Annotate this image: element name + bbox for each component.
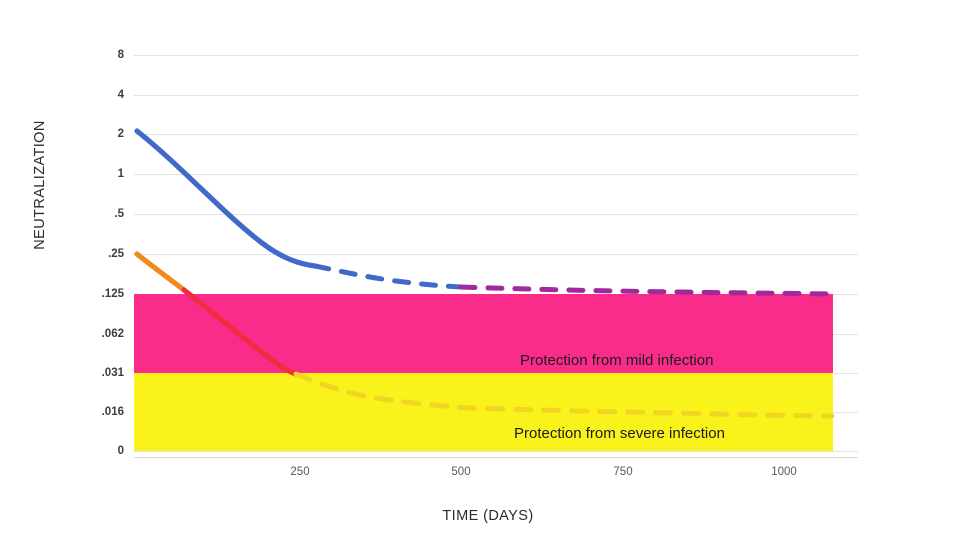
y-tick-label: .25: [78, 248, 124, 260]
band-severe-infection: [134, 373, 833, 451]
y-tick-label: 1: [78, 168, 124, 180]
y-tick-label: 8: [78, 49, 124, 61]
band-mild-infection: [134, 294, 833, 373]
gridline: [134, 451, 858, 452]
y-tick-label: .125: [78, 288, 124, 300]
plot-area: Protection from mild infection Protectio…: [134, 48, 858, 458]
y-tick-label: .5: [78, 208, 124, 220]
y-tick-label: .062: [78, 328, 124, 340]
gridline: [134, 214, 858, 215]
y-tick-label: .031: [78, 367, 124, 379]
band-severe-infection-label: Protection from severe infection: [514, 425, 725, 442]
x-tick-label: 750: [593, 466, 653, 478]
x-axis-line: [134, 457, 858, 458]
y-tick-label: 2: [78, 128, 124, 140]
x-tick-label: 1000: [754, 466, 814, 478]
y-tick-label: .016: [78, 406, 124, 418]
gridline: [134, 254, 858, 255]
neutralization-decay-chart: NEUTRALIZATION TIME (DAYS) 8 4 2 1 .5 .2…: [0, 0, 959, 556]
gridline: [134, 55, 858, 56]
y-tick-label: 0: [78, 445, 124, 457]
gridline: [134, 174, 858, 175]
x-tick-label: 500: [431, 466, 491, 478]
x-axis-title: TIME (DAYS): [138, 508, 838, 524]
gridline: [134, 134, 858, 135]
x-tick-label: 250: [270, 466, 330, 478]
y-axis-title: NEUTRALIZATION: [32, 105, 48, 265]
y-tick-label: 4: [78, 89, 124, 101]
gridline: [134, 95, 858, 96]
band-mild-infection-label: Protection from mild infection: [520, 352, 713, 369]
